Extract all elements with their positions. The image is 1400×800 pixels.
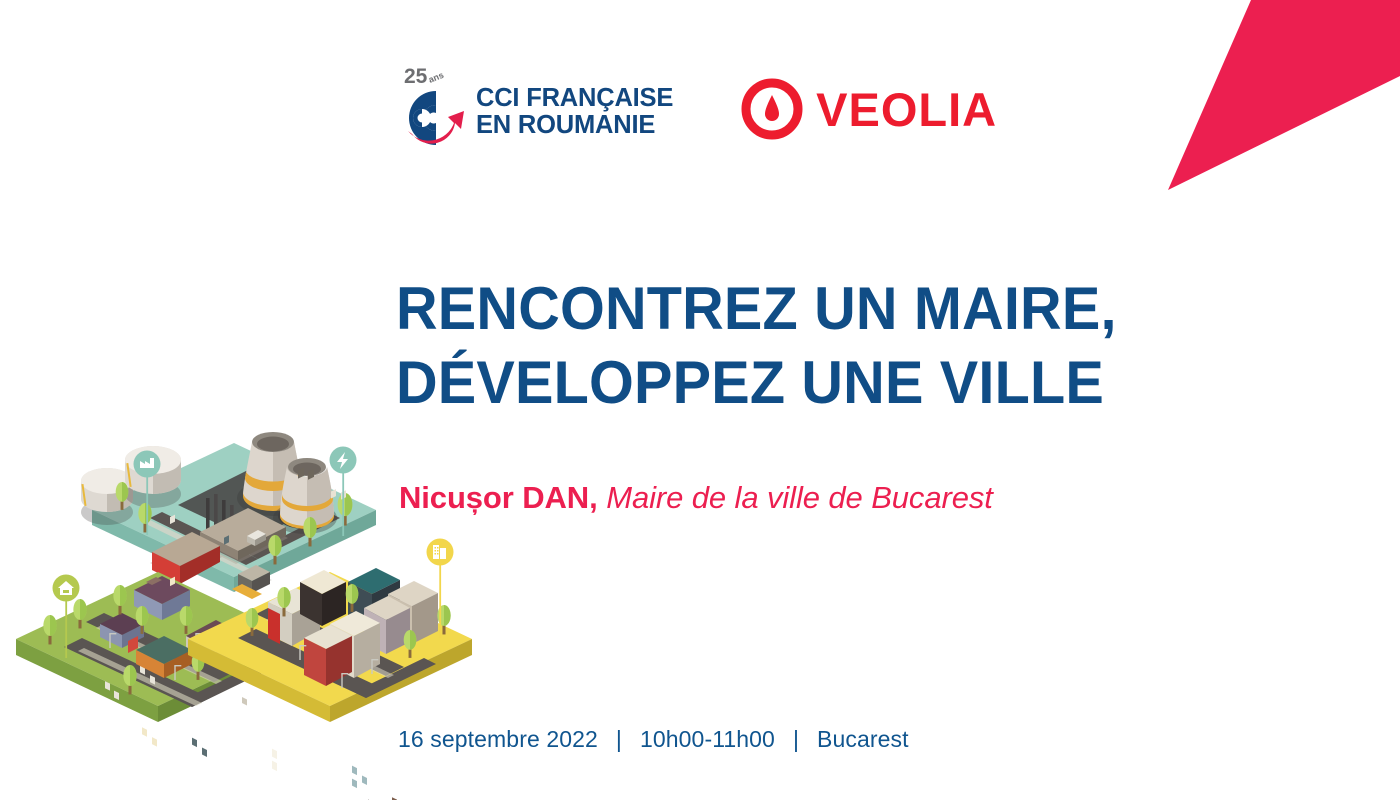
headline-line-1: RENCONTREZ UN MAIRE, <box>396 272 1222 346</box>
isometric-city-illustration <box>0 432 480 800</box>
slide-canvas: 25 ans CCI FRANÇAISE EN ROUMANIE V <box>0 0 1400 800</box>
svg-text:ans: ans <box>427 70 445 85</box>
event-location: Bucarest <box>817 726 909 753</box>
corner-accent-triangle <box>1120 0 1400 200</box>
speaker-role: Maire de la ville de Bucarest <box>606 480 993 515</box>
meta-separator-1: | <box>616 726 622 753</box>
page-title: RENCONTREZ UN MAIRE, DÉVELOPPEZ UNE VILL… <box>396 272 1256 420</box>
cci-wordmark-line2: EN ROUMANIE <box>476 112 673 139</box>
svg-text:25: 25 <box>404 65 428 88</box>
meta-separator-2: | <box>793 726 799 753</box>
event-time: 10h00-11h00 <box>640 726 775 753</box>
cci-wordmark-line1: CCI FRANÇAISE <box>476 85 673 112</box>
cci-wordmark: CCI FRANÇAISE EN ROUMANIE <box>476 85 673 139</box>
veolia-logo: VEOLIA <box>741 78 997 140</box>
headline-line-2: DÉVELOPPEZ UNE VILLE <box>396 346 1222 420</box>
logo-bar: 25 ans CCI FRANÇAISE EN ROUMANIE V <box>392 58 997 154</box>
veolia-droplet-circle-icon <box>741 78 803 140</box>
speaker-line: Nicușor DAN, Maire de la ville de Bucare… <box>399 478 993 518</box>
veolia-wordmark: VEOLIA <box>816 86 997 133</box>
cci-logo: 25 ans CCI FRANÇAISE EN ROUMANIE <box>392 61 673 151</box>
speaker-separator: , <box>589 480 598 515</box>
cci-c-arrow-icon: 25 ans <box>392 61 470 151</box>
